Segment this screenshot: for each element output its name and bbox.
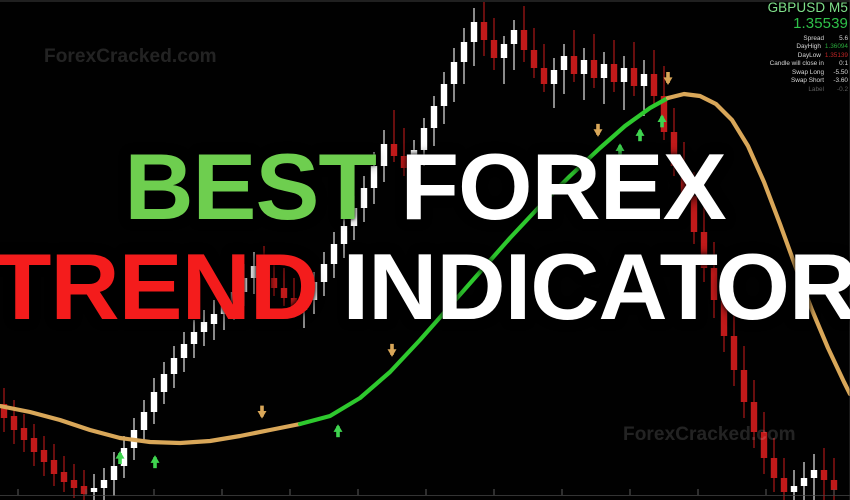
- info-row-key: Label: [808, 86, 824, 95]
- info-row-key: Candle will close in: [770, 60, 824, 69]
- info-row-value: 5.6: [828, 35, 848, 44]
- current-price-label: 1.35539: [764, 16, 848, 31]
- info-row-value: 0:1: [828, 60, 848, 69]
- symbol-timeframe-label: GBPUSD M5: [764, 1, 848, 15]
- trading-chart-promo-banner: GBPUSD M5 1.35539 Spread5.6DayHigh1.3609…: [0, 0, 850, 500]
- watermark-bottom-right: ForexCracked.com: [623, 424, 796, 446]
- symbol-info-panel: GBPUSD M5 1.35539 Spread5.6DayHigh1.3609…: [764, 1, 848, 95]
- info-row-value: -0.2: [828, 86, 848, 95]
- info-row: Swap Short-3.60: [764, 77, 848, 86]
- info-row: Candle will close in0:1: [764, 60, 848, 69]
- info-row: Swap Long-5.50: [764, 69, 848, 78]
- info-row-value: -3.60: [828, 77, 848, 86]
- info-row: DayHigh1.36094: [764, 43, 848, 52]
- info-row: Label-0.2: [764, 86, 848, 95]
- chart-bottom-axis: [0, 495, 850, 496]
- info-rows-list: Spread5.6DayHigh1.36094DayLow1.35139Cand…: [764, 35, 848, 95]
- info-row-key: Swap Short: [791, 77, 824, 86]
- info-row: DayLow1.35139: [764, 52, 848, 61]
- info-row-key: Swap Long: [792, 69, 824, 78]
- watermark-top-left: ForexCracked.com: [44, 46, 217, 68]
- info-row-key: Spread: [803, 35, 824, 44]
- info-row-key: DayHigh: [796, 43, 821, 52]
- info-row: Spread5.6: [764, 35, 848, 44]
- info-row-value: 1.36094: [825, 43, 848, 52]
- info-row-key: DayLow: [798, 52, 821, 61]
- chart-top-border: [0, 0, 850, 2]
- info-row-value: 1.35139: [825, 52, 848, 61]
- info-row-value: -5.50: [828, 69, 848, 78]
